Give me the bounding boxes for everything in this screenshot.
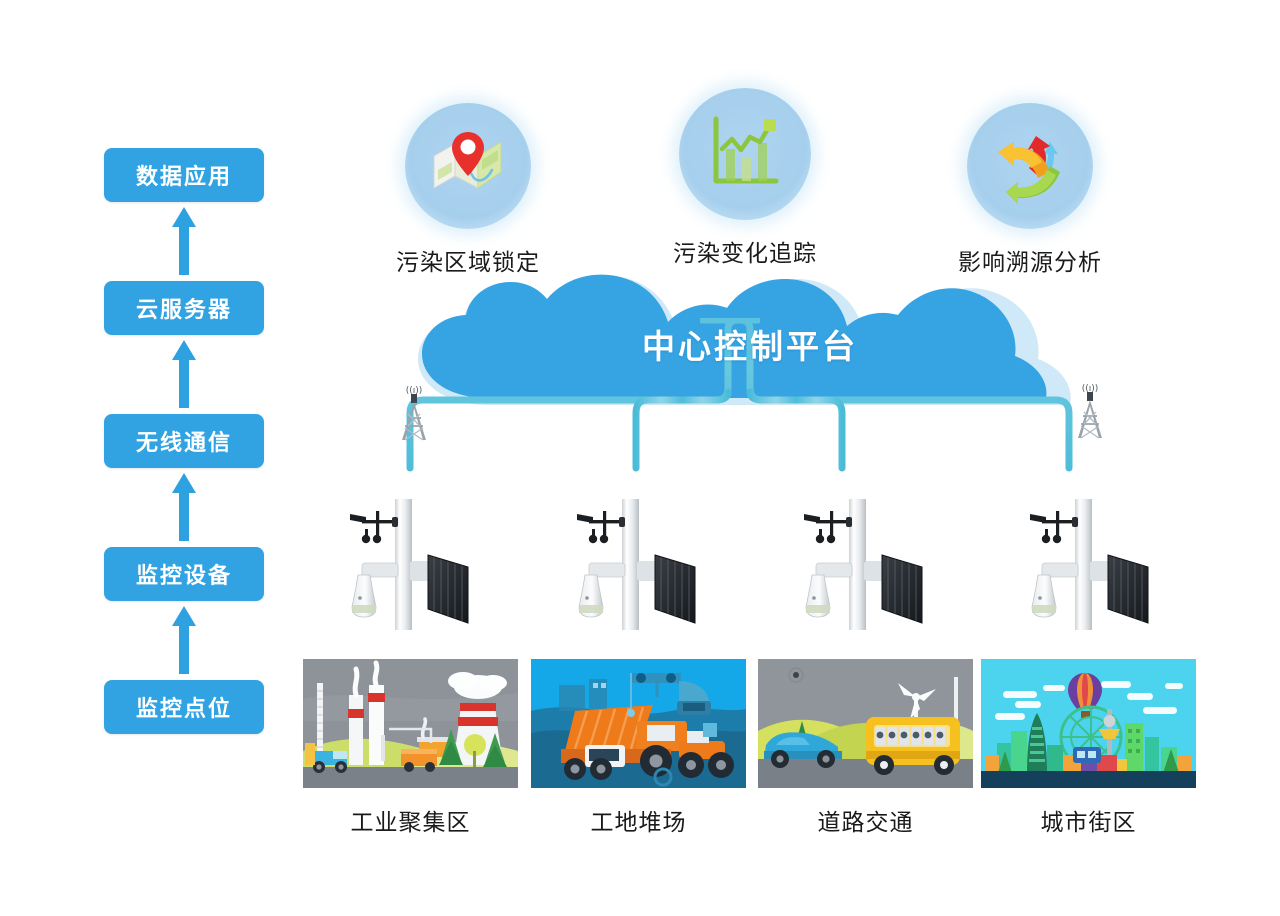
connector-bus-lines [330,340,1150,510]
flow-step-label: 云服务器 [136,292,232,324]
feature-pollution-change-tracking[interactable]: 污染变化追踪 [640,88,850,268]
flow-step-label: 数据应用 [136,159,232,191]
cloud-trunk-stub [700,318,760,360]
scene-card-industrial-zone[interactable]: 工业聚集区 [303,659,518,837]
flow-step-monitoring-equipment[interactable]: 监控设备 [104,547,264,601]
scene-label: 城市街区 [981,803,1196,837]
flow-step-label: 监控点位 [136,691,232,723]
industrial-zone-illustration [303,659,518,788]
flow-step-label: 监控设备 [136,558,232,590]
feature-icon-backdrop [967,103,1093,229]
monitoring-station-4[interactable] [1016,495,1176,630]
monitoring-station-icon [336,495,496,630]
scene-label: 道路交通 [758,803,973,837]
signal-tower-right: ((ı)) [1068,382,1112,440]
scene-card-city-district[interactable]: 城市街区 [981,659,1196,837]
flow-arrow-up-icon [170,205,198,277]
flow-step-monitoring-points[interactable]: 监控点位 [104,680,264,734]
signal-tower-icon: ((ı)) [1068,382,1112,440]
city-district-illustration [981,659,1196,788]
feature-impact-source-analysis[interactable]: 影响溯源分析 [925,103,1135,277]
scene-card-construction-site[interactable]: 工地堆场 [531,659,746,837]
flow-column: 数据应用 云服务器 无线通信 监控设备 监控点位 [104,148,268,738]
flow-arrow-up-icon [170,338,198,410]
flow-arrow-up-icon [170,604,198,676]
monitoring-station-3[interactable] [790,495,950,630]
signal-tower-left: ((ı)) [392,384,436,442]
signal-tower-icon: ((ı)) [392,384,436,442]
construction-site-illustration [531,659,746,788]
monitoring-station-icon [563,495,723,630]
bar-line-chart-icon [700,109,790,199]
road-traffic-illustration [758,659,973,788]
feature-label: 污染变化追踪 [640,234,850,268]
scene-label: 工地堆场 [531,803,746,837]
flow-step-data-application[interactable]: 数据应用 [104,148,264,202]
monitoring-station-1[interactable] [336,495,496,630]
flow-step-label: 无线通信 [136,425,232,457]
swirl-arrows-icon [984,120,1076,212]
scene-card-road-traffic[interactable]: 道路交通 [758,659,973,837]
flow-step-cloud-server[interactable]: 云服务器 [104,281,264,335]
monitoring-station-icon [1016,495,1176,630]
feature-icon-backdrop [405,103,531,229]
monitoring-station-2[interactable] [563,495,723,630]
feature-pollution-area-lock[interactable]: 污染区域锁定 [363,103,573,277]
scene-label: 工业聚集区 [303,803,518,837]
flow-arrow-up-icon [170,471,198,543]
connector-lines-icon [330,340,1150,510]
feature-icon-backdrop [679,88,811,220]
flow-step-wireless-communication[interactable]: 无线通信 [104,414,264,468]
map-pin-icon [422,120,514,212]
monitoring-station-icon [790,495,950,630]
